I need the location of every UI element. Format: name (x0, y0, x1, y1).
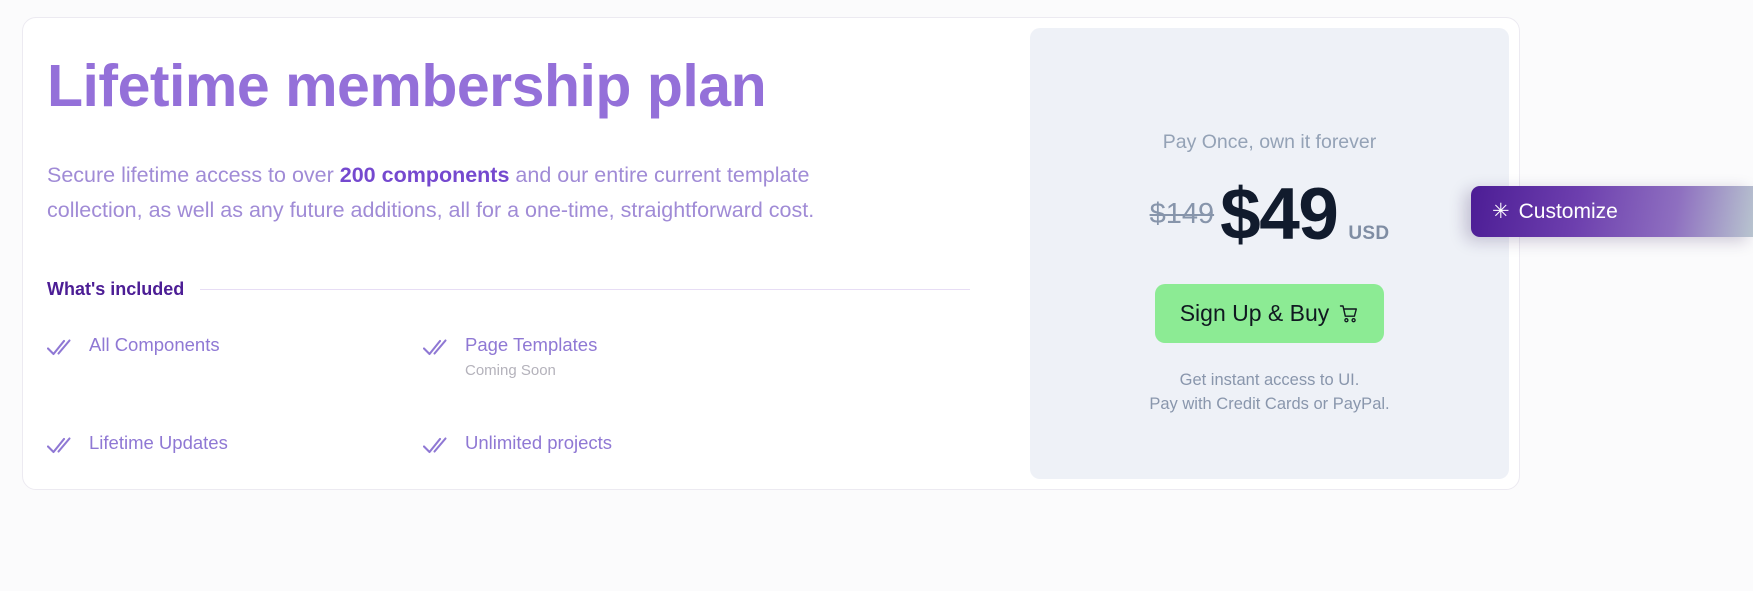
included-title: What's included (47, 279, 184, 300)
pricing-card: Lifetime membership plan Secure lifetime… (22, 17, 1520, 490)
pay-once-label: Pay Once, own it forever (1163, 133, 1377, 153)
purchase-note: Get instant access to UI. Pay with Credi… (1149, 369, 1389, 417)
double-check-icon (47, 435, 73, 455)
description-highlight: 200 components (340, 163, 510, 187)
list-item-content: Lifetime Updates (89, 432, 228, 454)
double-check-icon (423, 337, 449, 357)
list-item: Unlimited projects (423, 432, 990, 455)
list-item-content: Unlimited projects (465, 432, 612, 454)
price-row: $149 $49 USD (1150, 182, 1390, 248)
list-item: All Components (47, 334, 423, 380)
customize-tab-label: Customize (1519, 200, 1618, 224)
list-item-label: Lifetime Updates (89, 432, 228, 453)
list-item-content: All Components (89, 334, 220, 356)
sparkle-icon: ✳ (1492, 201, 1510, 222)
description-text-before: Secure lifetime access to over (47, 163, 340, 187)
features-grid: All Components Page Templates Coming Soo… (47, 334, 990, 455)
buy-button-label: Sign Up & Buy (1180, 300, 1330, 327)
customize-tab-button[interactable]: ✳ Customize (1471, 186, 1753, 237)
list-item-label: Unlimited projects (465, 432, 612, 453)
list-item-label: Page Templates (465, 334, 597, 355)
purchase-note-line-2: Pay with Credit Cards or PayPal. (1149, 393, 1389, 417)
plan-description: Secure lifetime access to over 200 compo… (47, 158, 907, 228)
list-item-label: All Components (89, 334, 220, 355)
original-price: $149 (1150, 198, 1215, 231)
double-check-icon (47, 337, 73, 357)
list-item: Lifetime Updates (47, 432, 423, 455)
shopping-cart-icon (1339, 304, 1359, 324)
current-price: $49 (1220, 182, 1337, 248)
page-title: Lifetime membership plan (47, 56, 990, 118)
list-item: Page Templates Coming Soon (423, 334, 990, 380)
plan-details-section: Lifetime membership plan Secure lifetime… (23, 18, 1030, 489)
list-item-sublabel: Coming Soon (465, 362, 597, 380)
purchase-note-line-1: Get instant access to UI. (1149, 369, 1389, 393)
currency-label: USD (1348, 223, 1389, 245)
list-item-content: Page Templates Coming Soon (465, 334, 597, 380)
divider (200, 289, 970, 290)
sign-up-and-buy-button[interactable]: Sign Up & Buy (1155, 284, 1384, 343)
double-check-icon (423, 435, 449, 455)
pricing-panel: Pay Once, own it forever $149 $49 USD Si… (1030, 28, 1509, 479)
included-header: What's included (47, 279, 990, 300)
